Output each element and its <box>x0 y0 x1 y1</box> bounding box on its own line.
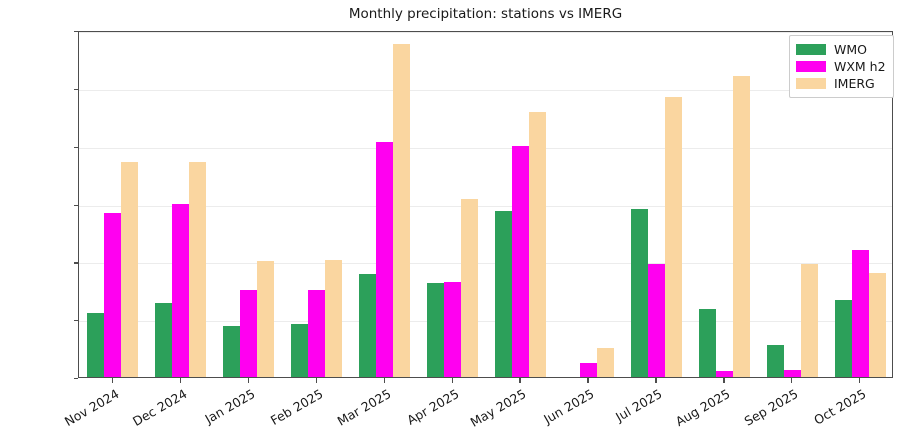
bar-imerg-jun-2025 <box>597 348 614 377</box>
bar-imerg-nov-2024 <box>121 162 138 377</box>
plot-area <box>78 31 893 378</box>
bar-wxm-h2-nov-2024 <box>104 213 121 377</box>
legend-entry-wxm-h2[interactable]: WXM h2 <box>796 58 886 75</box>
x-tick-mark <box>384 378 385 383</box>
legend-entry-wmo[interactable]: WMO <box>796 41 886 58</box>
x-tick-mark <box>655 378 656 383</box>
bar-wxm-h2-jun-2025 <box>580 363 597 377</box>
bar-wmo-oct-2025 <box>835 300 852 377</box>
bar-wxm-h2-sep-2025 <box>784 370 801 377</box>
bar-imerg-may-2025 <box>529 112 546 377</box>
bar-wxm-h2-may-2025 <box>512 146 529 377</box>
bar-wxm-h2-feb-2025 <box>308 290 325 377</box>
bar-wxm-h2-apr-2025 <box>444 282 461 377</box>
x-tick-mark <box>112 378 113 383</box>
bar-wmo-jul-2025 <box>631 209 648 377</box>
y-tick-mark <box>74 262 78 263</box>
gridline <box>79 32 892 33</box>
bar-imerg-sep-2025 <box>801 264 818 377</box>
bar-wmo-apr-2025 <box>427 283 444 377</box>
bar-wxm-h2-oct-2025 <box>852 250 869 377</box>
x-tick-label: Aug 2025 <box>670 386 733 431</box>
bar-imerg-aug-2025 <box>733 76 750 377</box>
y-tick-mark <box>74 205 78 206</box>
x-tick-label: Mar 2025 <box>330 386 393 431</box>
chart-title: Monthly precipitation: stations vs IMERG <box>78 6 893 22</box>
chart-legend: WMOWXM h2IMERG <box>789 35 894 98</box>
x-tick-label: May 2025 <box>466 386 529 431</box>
bar-imerg-mar-2025 <box>393 44 410 377</box>
bar-imerg-oct-2025 <box>869 273 886 377</box>
x-tick-label: Jun 2025 <box>534 386 597 431</box>
legend-label: WMO <box>834 42 867 57</box>
gridline <box>79 90 892 91</box>
x-tick-mark <box>180 378 181 383</box>
bar-wmo-jan-2025 <box>223 326 240 377</box>
legend-swatch-icon <box>796 61 826 72</box>
x-tick-label: Oct 2025 <box>806 386 869 431</box>
x-tick-mark <box>316 378 317 383</box>
x-tick-mark <box>791 378 792 383</box>
x-tick-label: Jan 2025 <box>194 386 257 431</box>
bar-wxm-h2-aug-2025 <box>716 371 733 377</box>
x-tick-label: Apr 2025 <box>398 386 461 431</box>
bar-wmo-nov-2024 <box>87 313 104 377</box>
x-tick-mark <box>248 378 249 383</box>
bar-wmo-may-2025 <box>495 211 512 377</box>
bar-wxm-h2-dec-2024 <box>172 204 189 378</box>
legend-swatch-icon <box>796 44 826 55</box>
precipitation-bar-chart-figure: Monthly precipitation: stations vs IMERG… <box>0 0 908 448</box>
bar-wxm-h2-jan-2025 <box>240 290 257 377</box>
bar-imerg-apr-2025 <box>461 199 478 377</box>
bar-imerg-jan-2025 <box>257 261 274 377</box>
bar-wxm-h2-mar-2025 <box>376 142 393 377</box>
bar-imerg-dec-2024 <box>189 162 206 377</box>
x-tick-label: Nov 2024 <box>59 386 122 431</box>
bar-wmo-feb-2025 <box>291 324 308 377</box>
x-tick-label: Dec 2024 <box>126 386 189 431</box>
x-tick-label: Feb 2025 <box>262 386 325 431</box>
x-tick-mark <box>519 378 520 383</box>
y-tick-mark <box>74 320 78 321</box>
y-tick-mark <box>74 31 78 32</box>
bar-imerg-feb-2025 <box>325 260 342 377</box>
y-tick-mark <box>74 89 78 90</box>
legend-entry-imerg[interactable]: IMERG <box>796 75 886 92</box>
bar-wmo-sep-2025 <box>767 345 784 377</box>
x-tick-mark <box>452 378 453 383</box>
x-tick-mark <box>723 378 724 383</box>
legend-swatch-icon <box>796 78 826 89</box>
x-tick-mark <box>859 378 860 383</box>
x-tick-label: Jul 2025 <box>602 386 665 431</box>
legend-label: IMERG <box>834 76 875 91</box>
x-tick-mark <box>587 378 588 383</box>
bar-wmo-aug-2025 <box>699 309 716 377</box>
bar-wxm-h2-jul-2025 <box>648 264 665 377</box>
legend-label: WXM h2 <box>834 59 886 74</box>
y-tick-mark <box>74 147 78 148</box>
bar-imerg-jul-2025 <box>665 97 682 377</box>
bar-wmo-dec-2024 <box>155 303 172 377</box>
gridline <box>79 148 892 149</box>
y-tick-mark <box>74 378 78 379</box>
bar-wmo-mar-2025 <box>359 274 376 377</box>
x-tick-label: Sep 2025 <box>738 386 801 431</box>
